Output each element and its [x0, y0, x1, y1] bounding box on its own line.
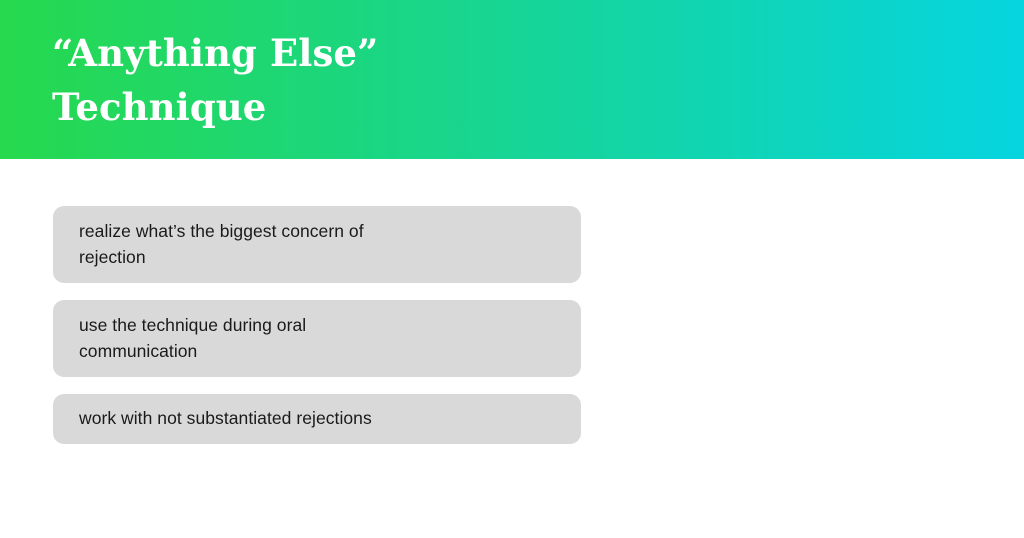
page-title: “Anything Else” Technique: [52, 26, 812, 134]
slide-body: realize what’s the biggest concern of re…: [0, 159, 1024, 538]
list-item-label: realize what’s the biggest concern of re…: [79, 218, 364, 271]
card-list: realize what’s the biggest concern of re…: [53, 206, 581, 461]
list-item[interactable]: work with not substantiated rejections: [53, 394, 581, 444]
list-item[interactable]: realize what’s the biggest concern of re…: [53, 206, 581, 283]
list-item-label: work with not substantiated rejections: [79, 405, 372, 432]
header-banner: “Anything Else” Technique: [0, 0, 1024, 159]
list-item[interactable]: use the technique during oral communicat…: [53, 300, 581, 377]
list-item-label: use the technique during oral communicat…: [79, 312, 306, 365]
slide: “Anything Else” Technique realize what’s…: [0, 0, 1024, 538]
